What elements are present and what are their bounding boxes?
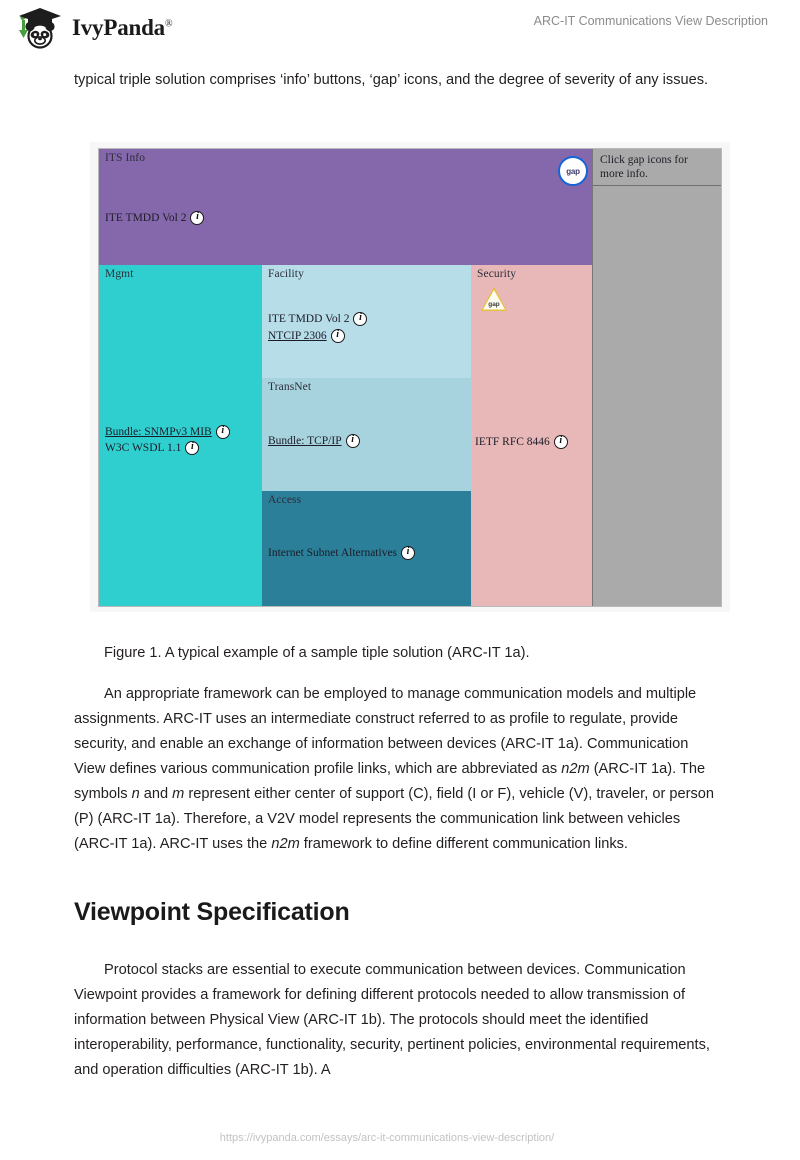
- gap-circle-icon[interactable]: gap: [558, 156, 588, 186]
- figure-entry-bundle-tcp-ip[interactable]: Bundle: TCP/IP: [268, 434, 360, 448]
- legend-note-text: Click gap icons for more info.: [600, 153, 704, 181]
- figure-cell-mgmt[interactable]: Mgmt Bundle: SNMPv3 MIB W3C WSDL 1.1: [99, 265, 262, 606]
- figure-cell-security[interactable]: Security IETF RFC 8446 gap: [471, 265, 592, 606]
- figure-entry-label: IETF RFC 8446: [475, 436, 550, 448]
- gap-circle-label: gap: [566, 167, 580, 176]
- info-icon[interactable]: [185, 441, 199, 455]
- figure-entry-ietf-rfc-8446[interactable]: IETF RFC 8446: [475, 435, 568, 449]
- figure-cell-label-facility: Facility: [268, 268, 304, 280]
- figure-legend-panel: Click gap icons for more info.: [592, 149, 721, 606]
- figure-cell-its-info[interactable]: ITS Info ITE TMDD Vol 2: [99, 149, 592, 265]
- figure-cell-label-transnet: TransNet: [268, 381, 311, 393]
- figure-entry-label: Bundle: SNMPv3 MIB: [105, 426, 212, 438]
- info-icon[interactable]: [554, 435, 568, 449]
- intro-paragraph-block: typical triple solution comprises ‘info’…: [74, 68, 720, 93]
- p2-part-e: framework to define different communicat…: [300, 836, 628, 852]
- figure-cell-label-mgmt: Mgmt: [105, 268, 134, 280]
- figure-cell-access[interactable]: Access Internet Subnet Alternatives: [262, 491, 471, 606]
- figure-entry-w3c-wsdl-11[interactable]: W3C WSDL 1.1: [105, 441, 199, 455]
- paragraph-3: Protocol stacks are essential to execute…: [74, 958, 722, 1083]
- figure-entry-ite-tmdd-vol2-its[interactable]: ITE TMDD Vol 2: [105, 211, 204, 225]
- gap-triangle-label: gap: [481, 301, 507, 308]
- p2-part-c: and: [140, 786, 172, 802]
- ivypanda-panda-logo-icon: [16, 6, 64, 50]
- registered-mark: ®: [165, 18, 172, 29]
- figure-cell-facility[interactable]: Facility ITE TMDD Vol 2 NTCIP 2306: [262, 265, 471, 378]
- brand-name-text: IvyPanda: [72, 15, 165, 40]
- figure-entry-ite-tmdd-vol2-facility[interactable]: ITE TMDD Vol 2: [268, 312, 367, 326]
- paragraph-3-block: Protocol stacks are essential to execute…: [74, 958, 722, 1083]
- figure-entry-label: ITE TMDD Vol 2: [268, 313, 349, 325]
- p2-italic-n2m-2: n2m: [271, 836, 299, 852]
- figure-1-container: ITS Info ITE TMDD Vol 2 gap Mgmt Bundle:…: [90, 142, 730, 612]
- p2-italic-n: n: [132, 786, 140, 802]
- footer-url[interactable]: https://ivypanda.com/essays/arc-it-commu…: [0, 1132, 800, 1144]
- document-title: ARC-IT Communications View Description: [534, 14, 768, 28]
- info-icon[interactable]: [331, 329, 345, 343]
- legend-divider: [593, 185, 721, 186]
- info-icon[interactable]: [401, 546, 415, 560]
- figure-entry-label: NTCIP 2306: [268, 330, 327, 342]
- info-icon[interactable]: [190, 211, 204, 225]
- paragraph-2: An appropriate framework can be employed…: [74, 682, 722, 857]
- paragraph-2-block: An appropriate framework can be employed…: [74, 682, 722, 857]
- brand-name: IvyPanda®: [72, 15, 172, 41]
- brand-logo[interactable]: IvyPanda®: [16, 6, 172, 50]
- p2-italic-n2m-1: n2m: [561, 761, 589, 777]
- figure-cell-label-access: Access: [268, 494, 301, 506]
- figure-cell-label-security: Security: [477, 268, 516, 280]
- p2-italic-m: m: [172, 786, 184, 802]
- figure-1-diagram: ITS Info ITE TMDD Vol 2 gap Mgmt Bundle:…: [98, 148, 722, 607]
- figure-entry-label: W3C WSDL 1.1: [105, 442, 181, 454]
- page-header: IvyPanda® ARC-IT Communications View Des…: [0, 0, 800, 56]
- figure-1-caption: Figure 1. A typical example of a sample …: [104, 642, 724, 664]
- section-heading-viewpoint-specification: Viewpoint Specification: [74, 898, 350, 927]
- info-icon[interactable]: [346, 434, 360, 448]
- figure-entry-ntcip-2306[interactable]: NTCIP 2306: [268, 329, 345, 343]
- gap-triangle-icon[interactable]: gap: [481, 287, 507, 311]
- figure-entry-internet-subnet-alternatives[interactable]: Internet Subnet Alternatives: [268, 546, 415, 560]
- figure-cell-transnet[interactable]: TransNet Bundle: TCP/IP: [262, 378, 471, 491]
- figure-entry-label: ITE TMDD Vol 2: [105, 212, 186, 224]
- info-icon[interactable]: [216, 425, 230, 439]
- intro-paragraph: typical triple solution comprises ‘info’…: [74, 68, 720, 93]
- figure-entry-label: Internet Subnet Alternatives: [268, 547, 397, 559]
- info-icon[interactable]: [353, 312, 367, 326]
- figure-entry-bundle-snmpv3-mib[interactable]: Bundle: SNMPv3 MIB: [105, 425, 230, 439]
- figure-entry-label: Bundle: TCP/IP: [268, 435, 342, 447]
- figure-cell-label-its-info: ITS Info: [105, 152, 145, 164]
